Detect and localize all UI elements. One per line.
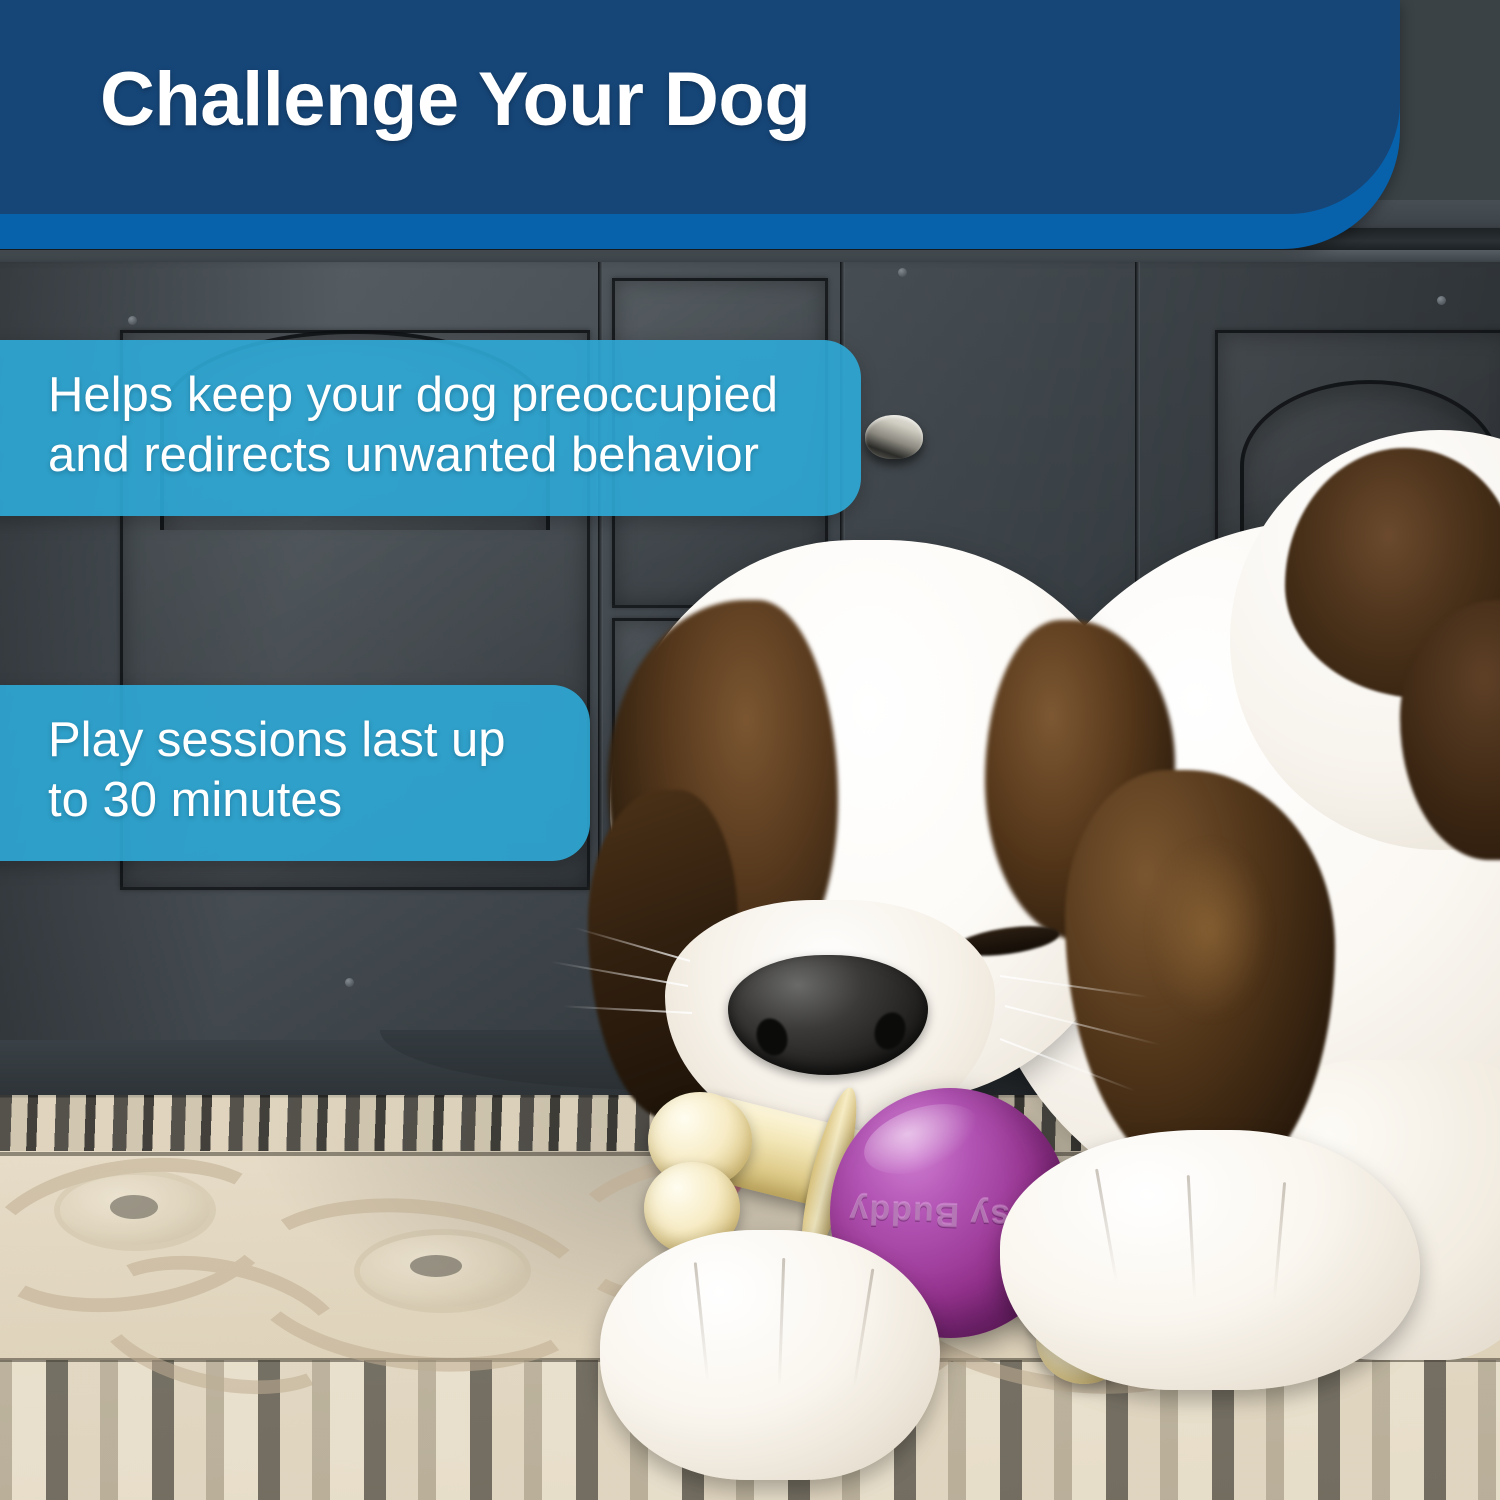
page-title: Challenge Your Dog	[100, 62, 810, 138]
product-feature-card: Busy Buddy Challenge Your Dog Helps keep…	[0, 0, 1500, 1500]
dog-ear-highlight	[1150, 840, 1270, 1020]
feature-callout-2-text: Play sessions last up to 30 minutes	[48, 711, 556, 831]
dog-paw-right	[1000, 1130, 1420, 1390]
feature-callout-1: Helps keep your dog preoccupied and redi…	[0, 340, 861, 516]
feature-callout-1-text: Helps keep your dog preoccupied and redi…	[48, 366, 827, 486]
feature-callout-2: Play sessions last up to 30 minutes	[0, 685, 590, 861]
dog-paw-left	[600, 1230, 940, 1480]
